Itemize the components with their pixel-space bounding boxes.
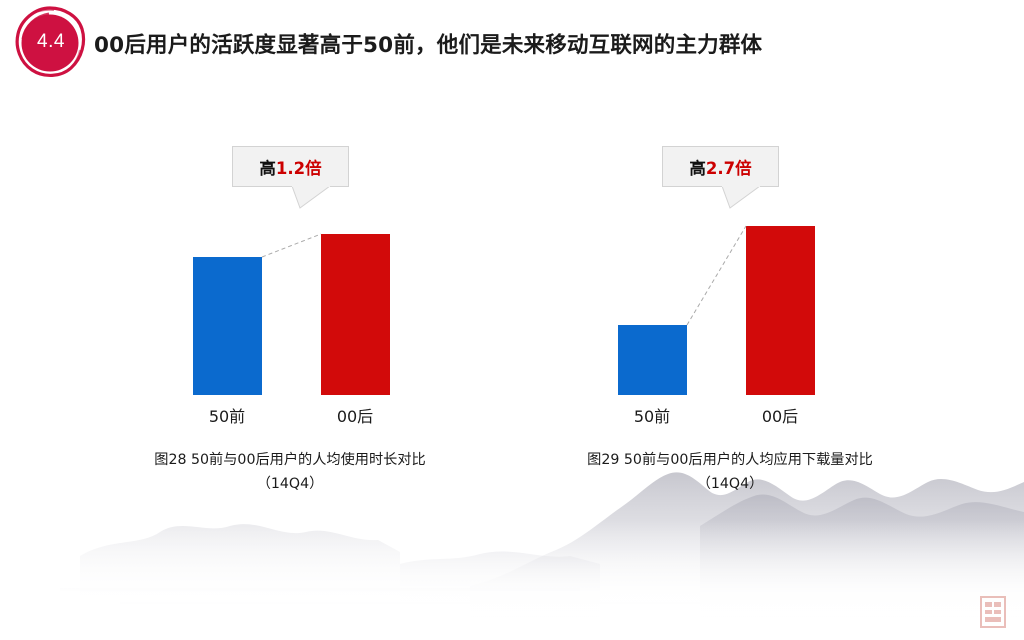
category-label-00hou: 00后 [725, 403, 835, 427]
leader-line-duration [70, 120, 510, 395]
charts-container: 高1.2倍 50前 [0, 120, 1024, 520]
page-title: 00后用户的活跃度显著高于50前，他们是未来移动互联网的主力群体 [94, 28, 762, 59]
chart-duration: 高1.2倍 50前 [70, 120, 510, 520]
chart-caption-downloads: 图29 50前与00后用户的人均应用下载量对比 （14Q4） [510, 448, 950, 496]
category-label-00hou: 00后 [300, 403, 410, 427]
chart-caption-duration: 图28 50前与00后用户的人均使用时长对比 （14Q4） [70, 448, 510, 496]
plot-area-duration [70, 120, 510, 395]
category-labels-duration: 50前 00后 [70, 403, 510, 429]
category-labels-downloads: 50前 00后 [510, 403, 950, 429]
bar-00hou-duration [321, 234, 390, 395]
caption-line-2: （14Q4） [70, 472, 510, 496]
seal-stamp-icon [980, 596, 1006, 628]
chart-downloads: 高2.7倍 50前 [510, 120, 950, 520]
slide-canvas: 4.4 00后用户的活跃度显著高于50前，他们是未来移动互联网的主力群体 高1.… [0, 0, 1024, 640]
caption-line-1: 图29 50前与00后用户的人均应用下载量对比 [587, 452, 873, 468]
section-number-badge: 4.4 [14, 6, 86, 78]
slide-header: 4.4 00后用户的活跃度显著高于50前，他们是未来移动互联网的主力群体 [0, 0, 1024, 84]
category-label-50qian: 50前 [597, 403, 707, 427]
leader-line-downloads [510, 120, 950, 395]
plot-area-downloads [510, 120, 950, 395]
background-fade [0, 520, 1024, 640]
category-label-50qian: 50前 [172, 403, 282, 427]
bar-00hou-downloads [746, 226, 815, 395]
bar-50qian-downloads [618, 325, 687, 395]
caption-line-1: 图28 50前与00后用户的人均使用时长对比 [154, 452, 425, 468]
section-number-text: 4.4 [14, 6, 86, 78]
bar-50qian-duration [193, 257, 262, 395]
caption-line-2: （14Q4） [510, 472, 950, 496]
